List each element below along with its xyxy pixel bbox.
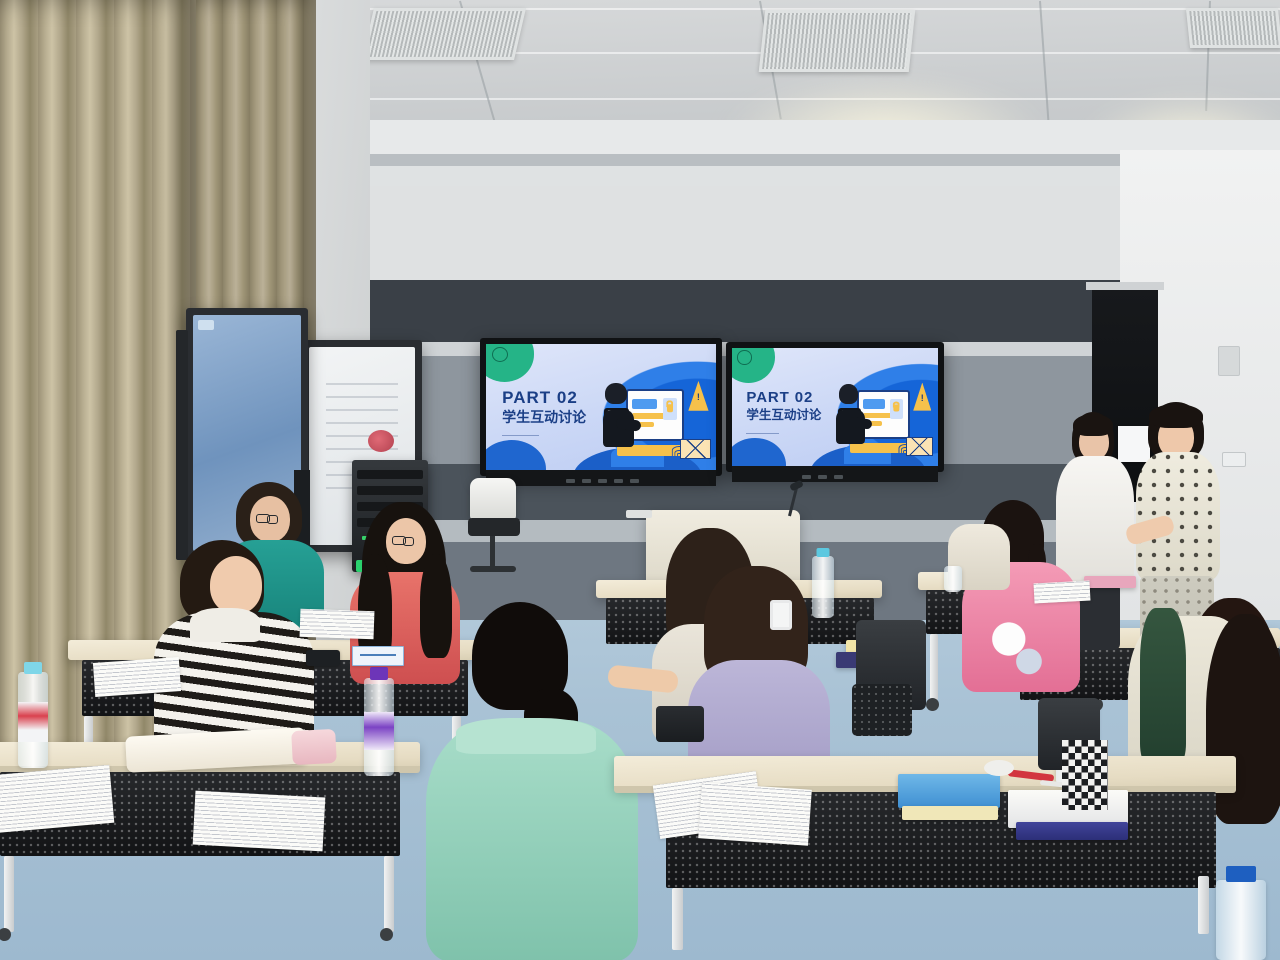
padlock-icon (667, 405, 673, 412)
hacker-figure-icon (835, 384, 866, 443)
instructor-chair-base (470, 566, 516, 572)
slide-subtitle: 学生互动讨论 (746, 409, 821, 423)
eyeglasses (392, 536, 406, 545)
water-bottle[interactable] (364, 678, 394, 776)
desk-caster (926, 698, 939, 711)
envelope-icon (906, 437, 933, 456)
slide-part-label: PART 02 (746, 390, 821, 405)
cybersecurity-illustration (837, 376, 928, 454)
worksheet[interactable] (0, 765, 114, 833)
collar (190, 608, 260, 642)
right-display[interactable]: PART 02 学生互动讨论 (726, 342, 944, 472)
wall-switch-plate[interactable] (1222, 452, 1246, 467)
lock-panel (663, 398, 677, 420)
eraser (984, 760, 1014, 776)
warning-triangle-icon (688, 381, 708, 411)
posted-notice (1118, 426, 1150, 462)
torso (1056, 456, 1134, 588)
worksheet[interactable] (193, 791, 326, 852)
rolled-fabric (291, 729, 337, 765)
hair-clip (770, 600, 792, 630)
torso (1140, 608, 1186, 762)
slide-logo-mark (492, 347, 508, 362)
torso (426, 720, 638, 960)
smartphone[interactable] (306, 650, 340, 666)
slide-canvas: PART 02 学生互动讨论 (732, 348, 938, 466)
right-display-screen: PART 02 学生互动讨论 (732, 348, 938, 466)
classroom-scene: PART 02 学生互动讨论 (0, 0, 1280, 960)
hair-over-shoulder (420, 554, 452, 658)
desk-leg (4, 856, 14, 932)
ceiling-vent (362, 8, 526, 60)
head (210, 556, 262, 614)
lock-panel (890, 399, 903, 419)
padlock-icon (894, 405, 899, 412)
slide-divider (746, 433, 779, 434)
torso (1136, 452, 1220, 580)
checkered-bag (1062, 740, 1108, 810)
left-display[interactable]: PART 02 学生互动讨论 (480, 338, 722, 476)
left-display-bezel-bottom (486, 470, 716, 486)
slide-blue-corner (732, 438, 786, 466)
flower-decoration (368, 430, 394, 452)
worksheet[interactable] (300, 609, 375, 640)
whiteboard-status-indicator (198, 320, 214, 330)
ceiling-vent (1186, 8, 1280, 48)
hacker-figure-icon (601, 383, 635, 446)
water-bottle[interactable] (812, 556, 834, 618)
backpack (656, 706, 704, 742)
slide-divider (502, 435, 539, 436)
mesh-chair-back (852, 684, 912, 736)
slide-text-block: PART 02 学生互动讨论 (502, 389, 586, 425)
hair-front (1073, 414, 1113, 436)
textbook[interactable] (902, 806, 998, 820)
slide-logo-mark (737, 350, 751, 364)
hair-front (1149, 404, 1203, 428)
slide-canvas: PART 02 学生互动讨论 (486, 344, 716, 470)
desk-leg (1198, 876, 1209, 934)
desk-leg (384, 856, 394, 932)
cybersecurity-illustration (603, 374, 704, 457)
textbook[interactable] (1084, 576, 1136, 588)
worksheet[interactable] (698, 782, 812, 846)
ceiling-vent (759, 10, 916, 72)
desk-leg (930, 634, 938, 700)
worksheet[interactable] (93, 657, 181, 697)
instructor-chair[interactable] (470, 478, 516, 520)
lectern-laptop (626, 510, 652, 518)
whiteboard-mount-left (176, 330, 188, 560)
eyeglasses (256, 514, 270, 523)
right-display-bezel-bottom (732, 466, 938, 482)
water-bottle[interactable] (1216, 880, 1266, 960)
water-bottle[interactable] (18, 672, 48, 768)
slide-text-block: PART 02 学生互动讨论 (746, 390, 821, 422)
water-bottle[interactable] (944, 566, 962, 592)
envelope-icon (680, 439, 710, 459)
hood (456, 718, 596, 754)
textbook[interactable] (898, 774, 1000, 808)
graphic-print (992, 618, 1048, 688)
slide-subtitle: 学生互动讨论 (502, 410, 586, 425)
slide-blue-corner (486, 440, 546, 470)
name-card (352, 646, 404, 666)
slide-part-label: PART 02 (502, 389, 586, 406)
notebook-cover[interactable] (1016, 822, 1128, 840)
wall-panel (1218, 346, 1240, 376)
left-display-screen: PART 02 学生互动讨论 (486, 344, 716, 470)
instructor-chair-seat (468, 518, 520, 536)
door-frame (1086, 282, 1164, 290)
instructor-chair-post (490, 536, 495, 570)
desk-leg (672, 888, 683, 950)
desk-caster (380, 928, 393, 941)
worksheet[interactable] (1034, 581, 1091, 604)
warning-triangle-icon (913, 383, 931, 411)
